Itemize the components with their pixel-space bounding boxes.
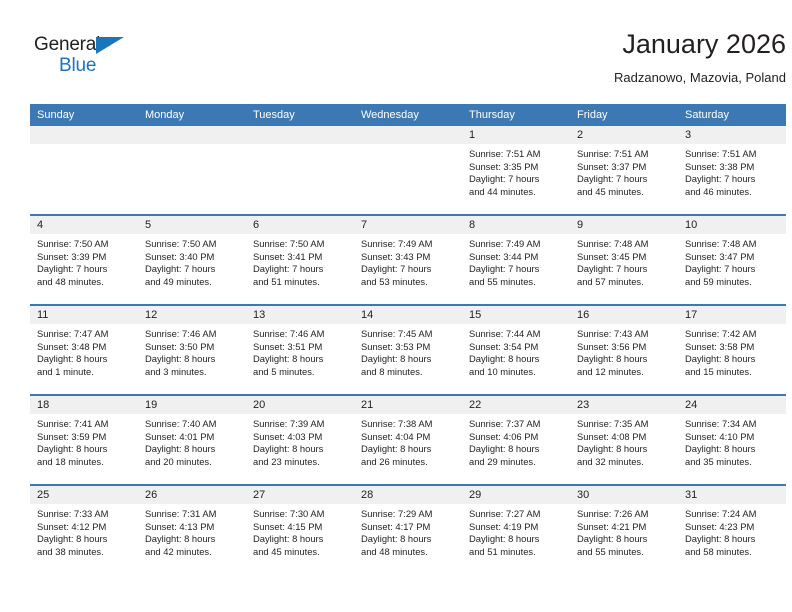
daylight-text-line1: Daylight: 7 hours — [253, 263, 349, 276]
calendar-day-cell[interactable]: 17Sunrise: 7:42 AMSunset: 3:58 PMDayligh… — [678, 305, 786, 395]
sunrise-text: Sunrise: 7:39 AM — [253, 418, 349, 431]
day-details: Sunrise: 7:35 AMSunset: 4:08 PMDaylight:… — [570, 414, 678, 468]
day-details: Sunrise: 7:31 AMSunset: 4:13 PMDaylight:… — [138, 504, 246, 558]
daylight-text-line2: and 32 minutes. — [577, 456, 673, 469]
daylight-text-line2: and 5 minutes. — [253, 366, 349, 379]
daylight-text-line1: Daylight: 8 hours — [145, 353, 241, 366]
day-number: 1 — [462, 126, 570, 144]
calendar-day-cell-empty — [246, 126, 354, 215]
day-number: 24 — [678, 396, 786, 414]
calendar-day-cell[interactable]: 11Sunrise: 7:47 AMSunset: 3:48 PMDayligh… — [30, 305, 138, 395]
day-details: Sunrise: 7:49 AMSunset: 3:43 PMDaylight:… — [354, 234, 462, 288]
sunset-text: Sunset: 4:04 PM — [361, 431, 457, 444]
daylight-text-line1: Daylight: 8 hours — [685, 533, 781, 546]
sunset-text: Sunset: 4:10 PM — [685, 431, 781, 444]
calendar-day-cell[interactable]: 23Sunrise: 7:35 AMSunset: 4:08 PMDayligh… — [570, 395, 678, 485]
daylight-text-line2: and 57 minutes. — [577, 276, 673, 289]
daylight-text-line1: Daylight: 8 hours — [253, 353, 349, 366]
day-number: 9 — [570, 216, 678, 234]
daylight-text-line2: and 15 minutes. — [685, 366, 781, 379]
sunrise-text: Sunrise: 7:47 AM — [37, 328, 133, 341]
day-details: Sunrise: 7:45 AMSunset: 3:53 PMDaylight:… — [354, 324, 462, 378]
calendar-day-cell[interactable]: 18Sunrise: 7:41 AMSunset: 3:59 PMDayligh… — [30, 395, 138, 485]
daylight-text-line1: Daylight: 8 hours — [37, 533, 133, 546]
calendar-day-cell[interactable]: 31Sunrise: 7:24 AMSunset: 4:23 PMDayligh… — [678, 485, 786, 574]
sunrise-text: Sunrise: 7:44 AM — [469, 328, 565, 341]
calendar-day-cell[interactable]: 9Sunrise: 7:48 AMSunset: 3:45 PMDaylight… — [570, 215, 678, 305]
calendar-day-cell-empty — [30, 126, 138, 215]
day-number: 30 — [570, 486, 678, 504]
calendar-day-cell[interactable]: 30Sunrise: 7:26 AMSunset: 4:21 PMDayligh… — [570, 485, 678, 574]
day-details: Sunrise: 7:49 AMSunset: 3:44 PMDaylight:… — [462, 234, 570, 288]
daylight-text-line1: Daylight: 8 hours — [685, 353, 781, 366]
day-number: 25 — [30, 486, 138, 504]
daylight-text-line1: Daylight: 8 hours — [577, 443, 673, 456]
daylight-text-line1: Daylight: 8 hours — [361, 353, 457, 366]
sunrise-text: Sunrise: 7:49 AM — [361, 238, 457, 251]
day-details: Sunrise: 7:42 AMSunset: 3:58 PMDaylight:… — [678, 324, 786, 378]
day-number: 28 — [354, 486, 462, 504]
day-details: Sunrise: 7:40 AMSunset: 4:01 PMDaylight:… — [138, 414, 246, 468]
calendar-header-row: Sunday Monday Tuesday Wednesday Thursday… — [30, 104, 786, 126]
brand-logo[interactable]: General Blue — [34, 34, 154, 80]
page-header: General Blue January 2026 Radzanowo, Maz… — [30, 28, 786, 100]
sunset-text: Sunset: 3:44 PM — [469, 251, 565, 264]
sunrise-text: Sunrise: 7:31 AM — [145, 508, 241, 521]
calendar-day-cell[interactable]: 15Sunrise: 7:44 AMSunset: 3:54 PMDayligh… — [462, 305, 570, 395]
day-details: Sunrise: 7:38 AMSunset: 4:04 PMDaylight:… — [354, 414, 462, 468]
calendar-day-cell[interactable]: 4Sunrise: 7:50 AMSunset: 3:39 PMDaylight… — [30, 215, 138, 305]
weekday-header-saturday: Saturday — [678, 104, 786, 126]
day-details: Sunrise: 7:30 AMSunset: 4:15 PMDaylight:… — [246, 504, 354, 558]
daylight-text-line2: and 1 minute. — [37, 366, 133, 379]
daylight-text-line1: Daylight: 7 hours — [469, 263, 565, 276]
daylight-text-line1: Daylight: 8 hours — [577, 353, 673, 366]
calendar-week-row: 4Sunrise: 7:50 AMSunset: 3:39 PMDaylight… — [30, 215, 786, 305]
sunrise-text: Sunrise: 7:48 AM — [685, 238, 781, 251]
sunset-text: Sunset: 3:56 PM — [577, 341, 673, 354]
day-number: 12 — [138, 306, 246, 324]
logo-triangle-icon — [96, 37, 124, 54]
sunrise-text: Sunrise: 7:50 AM — [37, 238, 133, 251]
daylight-text-line1: Daylight: 8 hours — [145, 443, 241, 456]
calendar-day-cell[interactable]: 28Sunrise: 7:29 AMSunset: 4:17 PMDayligh… — [354, 485, 462, 574]
daylight-text-line1: Daylight: 8 hours — [145, 533, 241, 546]
day-number — [30, 126, 138, 144]
calendar-page: General Blue January 2026 Radzanowo, Maz… — [0, 0, 792, 612]
sunrise-text: Sunrise: 7:26 AM — [577, 508, 673, 521]
sunrise-text: Sunrise: 7:49 AM — [469, 238, 565, 251]
sunrise-text: Sunrise: 7:29 AM — [361, 508, 457, 521]
day-details: Sunrise: 7:24 AMSunset: 4:23 PMDaylight:… — [678, 504, 786, 558]
sunset-text: Sunset: 3:38 PM — [685, 161, 781, 174]
weekday-header-monday: Monday — [138, 104, 246, 126]
location-subtitle: Radzanowo, Mazovia, Poland — [614, 69, 786, 87]
sunset-text: Sunset: 4:13 PM — [145, 521, 241, 534]
weekday-header-friday: Friday — [570, 104, 678, 126]
day-number: 13 — [246, 306, 354, 324]
day-details: Sunrise: 7:29 AMSunset: 4:17 PMDaylight:… — [354, 504, 462, 558]
day-number: 18 — [30, 396, 138, 414]
daylight-text-line2: and 12 minutes. — [577, 366, 673, 379]
day-details: Sunrise: 7:33 AMSunset: 4:12 PMDaylight:… — [30, 504, 138, 558]
calendar-body: 1Sunrise: 7:51 AMSunset: 3:35 PMDaylight… — [30, 126, 786, 574]
sunrise-text: Sunrise: 7:42 AM — [685, 328, 781, 341]
calendar-day-cell[interactable]: 29Sunrise: 7:27 AMSunset: 4:19 PMDayligh… — [462, 485, 570, 574]
calendar-week-row: 1Sunrise: 7:51 AMSunset: 3:35 PMDaylight… — [30, 126, 786, 215]
calendar-day-cell[interactable]: 24Sunrise: 7:34 AMSunset: 4:10 PMDayligh… — [678, 395, 786, 485]
day-details: Sunrise: 7:50 AMSunset: 3:39 PMDaylight:… — [30, 234, 138, 288]
day-number: 31 — [678, 486, 786, 504]
sunset-text: Sunset: 4:03 PM — [253, 431, 349, 444]
calendar-day-cell[interactable]: 10Sunrise: 7:48 AMSunset: 3:47 PMDayligh… — [678, 215, 786, 305]
sunset-text: Sunset: 3:53 PM — [361, 341, 457, 354]
day-number: 2 — [570, 126, 678, 144]
daylight-text-line2: and 3 minutes. — [145, 366, 241, 379]
sunset-text: Sunset: 4:23 PM — [685, 521, 781, 534]
page-title: January 2026 — [614, 28, 786, 60]
calendar-day-cell[interactable]: 5Sunrise: 7:50 AMSunset: 3:40 PMDaylight… — [138, 215, 246, 305]
sunset-text: Sunset: 4:19 PM — [469, 521, 565, 534]
sunset-text: Sunset: 4:06 PM — [469, 431, 565, 444]
day-number: 23 — [570, 396, 678, 414]
day-number — [354, 126, 462, 144]
day-details: Sunrise: 7:26 AMSunset: 4:21 PMDaylight:… — [570, 504, 678, 558]
daylight-text-line1: Daylight: 8 hours — [37, 443, 133, 456]
day-details: Sunrise: 7:48 AMSunset: 3:45 PMDaylight:… — [570, 234, 678, 288]
day-number: 20 — [246, 396, 354, 414]
sunrise-text: Sunrise: 7:41 AM — [37, 418, 133, 431]
sunrise-text: Sunrise: 7:40 AM — [145, 418, 241, 431]
sunset-text: Sunset: 3:43 PM — [361, 251, 457, 264]
sunrise-text: Sunrise: 7:43 AM — [577, 328, 673, 341]
day-details: Sunrise: 7:39 AMSunset: 4:03 PMDaylight:… — [246, 414, 354, 468]
sunrise-text: Sunrise: 7:51 AM — [469, 148, 565, 161]
sunset-text: Sunset: 4:12 PM — [37, 521, 133, 534]
daylight-text-line1: Daylight: 8 hours — [469, 533, 565, 546]
daylight-text-line1: Daylight: 7 hours — [685, 173, 781, 186]
calendar-day-cell[interactable]: 26Sunrise: 7:31 AMSunset: 4:13 PMDayligh… — [138, 485, 246, 574]
weekday-header-wednesday: Wednesday — [354, 104, 462, 126]
calendar-day-cell[interactable]: 12Sunrise: 7:46 AMSunset: 3:50 PMDayligh… — [138, 305, 246, 395]
daylight-text-line1: Daylight: 8 hours — [361, 443, 457, 456]
daylight-text-line2: and 23 minutes. — [253, 456, 349, 469]
calendar-week-row: 25Sunrise: 7:33 AMSunset: 4:12 PMDayligh… — [30, 485, 786, 574]
daylight-text-line1: Daylight: 7 hours — [577, 263, 673, 276]
day-number: 6 — [246, 216, 354, 234]
daylight-text-line1: Daylight: 7 hours — [145, 263, 241, 276]
day-number: 3 — [678, 126, 786, 144]
daylight-text-line2: and 44 minutes. — [469, 186, 565, 199]
daylight-text-line1: Daylight: 8 hours — [469, 443, 565, 456]
daylight-text-line2: and 20 minutes. — [145, 456, 241, 469]
calendar-week-row: 18Sunrise: 7:41 AMSunset: 3:59 PMDayligh… — [30, 395, 786, 485]
calendar-day-cell[interactable]: 1Sunrise: 7:51 AMSunset: 3:35 PMDaylight… — [462, 126, 570, 215]
sunrise-text: Sunrise: 7:48 AM — [577, 238, 673, 251]
day-number: 17 — [678, 306, 786, 324]
sunrise-text: Sunrise: 7:33 AM — [37, 508, 133, 521]
day-number: 27 — [246, 486, 354, 504]
day-details: Sunrise: 7:43 AMSunset: 3:56 PMDaylight:… — [570, 324, 678, 378]
day-number: 10 — [678, 216, 786, 234]
daylight-text-line2: and 26 minutes. — [361, 456, 457, 469]
calendar-day-cell[interactable]: 22Sunrise: 7:37 AMSunset: 4:06 PMDayligh… — [462, 395, 570, 485]
daylight-text-line2: and 42 minutes. — [145, 546, 241, 559]
day-number — [138, 126, 246, 144]
day-details: Sunrise: 7:37 AMSunset: 4:06 PMDaylight:… — [462, 414, 570, 468]
brand-name-general: General — [34, 34, 100, 56]
day-details: Sunrise: 7:50 AMSunset: 3:40 PMDaylight:… — [138, 234, 246, 288]
calendar-day-cell[interactable]: 6Sunrise: 7:50 AMSunset: 3:41 PMDaylight… — [246, 215, 354, 305]
day-number: 21 — [354, 396, 462, 414]
calendar-grid: Sunday Monday Tuesday Wednesday Thursday… — [30, 104, 786, 574]
brand-name-blue: Blue — [59, 55, 96, 77]
daylight-text-line2: and 18 minutes. — [37, 456, 133, 469]
calendar-day-cell[interactable]: 21Sunrise: 7:38 AMSunset: 4:04 PMDayligh… — [354, 395, 462, 485]
sunrise-text: Sunrise: 7:27 AM — [469, 508, 565, 521]
daylight-text-line2: and 51 minutes. — [469, 546, 565, 559]
sunset-text: Sunset: 4:15 PM — [253, 521, 349, 534]
sunrise-text: Sunrise: 7:24 AM — [685, 508, 781, 521]
daylight-text-line1: Daylight: 7 hours — [361, 263, 457, 276]
calendar-day-cell[interactable]: 20Sunrise: 7:39 AMSunset: 4:03 PMDayligh… — [246, 395, 354, 485]
daylight-text-line1: Daylight: 8 hours — [253, 533, 349, 546]
daylight-text-line2: and 45 minutes. — [577, 186, 673, 199]
sunrise-text: Sunrise: 7:50 AM — [253, 238, 349, 251]
daylight-text-line2: and 53 minutes. — [361, 276, 457, 289]
sunset-text: Sunset: 3:40 PM — [145, 251, 241, 264]
daylight-text-line2: and 55 minutes. — [577, 546, 673, 559]
daylight-text-line2: and 48 minutes. — [361, 546, 457, 559]
sunrise-text: Sunrise: 7:34 AM — [685, 418, 781, 431]
sunset-text: Sunset: 3:48 PM — [37, 341, 133, 354]
day-number: 4 — [30, 216, 138, 234]
sunrise-text: Sunrise: 7:35 AM — [577, 418, 673, 431]
daylight-text-line2: and 58 minutes. — [685, 546, 781, 559]
daylight-text-line2: and 10 minutes. — [469, 366, 565, 379]
weekday-header-sunday: Sunday — [30, 104, 138, 126]
sunrise-text: Sunrise: 7:46 AM — [253, 328, 349, 341]
day-number: 7 — [354, 216, 462, 234]
day-details: Sunrise: 7:48 AMSunset: 3:47 PMDaylight:… — [678, 234, 786, 288]
calendar-day-cell-empty — [354, 126, 462, 215]
sunset-text: Sunset: 4:21 PM — [577, 521, 673, 534]
sunrise-text: Sunrise: 7:30 AM — [253, 508, 349, 521]
sunset-text: Sunset: 3:35 PM — [469, 161, 565, 174]
sunrise-text: Sunrise: 7:50 AM — [145, 238, 241, 251]
day-details: Sunrise: 7:46 AMSunset: 3:50 PMDaylight:… — [138, 324, 246, 378]
daylight-text-line1: Daylight: 8 hours — [685, 443, 781, 456]
sunrise-text: Sunrise: 7:51 AM — [577, 148, 673, 161]
day-details: Sunrise: 7:51 AMSunset: 3:37 PMDaylight:… — [570, 144, 678, 198]
daylight-text-line1: Daylight: 8 hours — [469, 353, 565, 366]
weekday-header-thursday: Thursday — [462, 104, 570, 126]
daylight-text-line1: Daylight: 8 hours — [253, 443, 349, 456]
day-details: Sunrise: 7:34 AMSunset: 4:10 PMDaylight:… — [678, 414, 786, 468]
daylight-text-line2: and 55 minutes. — [469, 276, 565, 289]
daylight-text-line2: and 46 minutes. — [685, 186, 781, 199]
calendar-day-cell[interactable]: 19Sunrise: 7:40 AMSunset: 4:01 PMDayligh… — [138, 395, 246, 485]
day-number: 11 — [30, 306, 138, 324]
daylight-text-line2: and 35 minutes. — [685, 456, 781, 469]
day-details: Sunrise: 7:41 AMSunset: 3:59 PMDaylight:… — [30, 414, 138, 468]
sunset-text: Sunset: 3:47 PM — [685, 251, 781, 264]
sunrise-text: Sunrise: 7:45 AM — [361, 328, 457, 341]
calendar-day-cell[interactable]: 3Sunrise: 7:51 AMSunset: 3:38 PMDaylight… — [678, 126, 786, 215]
day-details: Sunrise: 7:51 AMSunset: 3:35 PMDaylight:… — [462, 144, 570, 198]
daylight-text-line2: and 8 minutes. — [361, 366, 457, 379]
daylight-text-line2: and 38 minutes. — [37, 546, 133, 559]
daylight-text-line2: and 51 minutes. — [253, 276, 349, 289]
day-number: 5 — [138, 216, 246, 234]
sunrise-text: Sunrise: 7:37 AM — [469, 418, 565, 431]
day-details: Sunrise: 7:44 AMSunset: 3:54 PMDaylight:… — [462, 324, 570, 378]
title-block: January 2026 Radzanowo, Mazovia, Poland — [614, 28, 786, 87]
sunset-text: Sunset: 3:58 PM — [685, 341, 781, 354]
sunset-text: Sunset: 3:37 PM — [577, 161, 673, 174]
calendar-day-cell[interactable]: 2Sunrise: 7:51 AMSunset: 3:37 PMDaylight… — [570, 126, 678, 215]
daylight-text-line1: Daylight: 7 hours — [469, 173, 565, 186]
day-number — [246, 126, 354, 144]
daylight-text-line1: Daylight: 8 hours — [37, 353, 133, 366]
day-details: Sunrise: 7:27 AMSunset: 4:19 PMDaylight:… — [462, 504, 570, 558]
day-details: Sunrise: 7:50 AMSunset: 3:41 PMDaylight:… — [246, 234, 354, 288]
day-details: Sunrise: 7:51 AMSunset: 3:38 PMDaylight:… — [678, 144, 786, 198]
day-number: 15 — [462, 306, 570, 324]
daylight-text-line2: and 49 minutes. — [145, 276, 241, 289]
sunset-text: Sunset: 4:01 PM — [145, 431, 241, 444]
calendar-day-cell[interactable]: 8Sunrise: 7:49 AMSunset: 3:44 PMDaylight… — [462, 215, 570, 305]
day-number: 26 — [138, 486, 246, 504]
sunset-text: Sunset: 4:17 PM — [361, 521, 457, 534]
daylight-text-line1: Daylight: 8 hours — [577, 533, 673, 546]
sunset-text: Sunset: 3:41 PM — [253, 251, 349, 264]
sunset-text: Sunset: 3:39 PM — [37, 251, 133, 264]
daylight-text-line2: and 29 minutes. — [469, 456, 565, 469]
day-number: 29 — [462, 486, 570, 504]
calendar-day-cell[interactable]: 13Sunrise: 7:46 AMSunset: 3:51 PMDayligh… — [246, 305, 354, 395]
daylight-text-line2: and 48 minutes. — [37, 276, 133, 289]
calendar-day-cell[interactable]: 14Sunrise: 7:45 AMSunset: 3:53 PMDayligh… — [354, 305, 462, 395]
sunrise-text: Sunrise: 7:46 AM — [145, 328, 241, 341]
daylight-text-line1: Daylight: 7 hours — [37, 263, 133, 276]
calendar-day-cell-empty — [138, 126, 246, 215]
calendar-week-row: 11Sunrise: 7:47 AMSunset: 3:48 PMDayligh… — [30, 305, 786, 395]
day-number: 16 — [570, 306, 678, 324]
daylight-text-line2: and 45 minutes. — [253, 546, 349, 559]
sunrise-text: Sunrise: 7:51 AM — [685, 148, 781, 161]
daylight-text-line1: Daylight: 7 hours — [685, 263, 781, 276]
sunset-text: Sunset: 3:50 PM — [145, 341, 241, 354]
day-details: Sunrise: 7:47 AMSunset: 3:48 PMDaylight:… — [30, 324, 138, 378]
daylight-text-line1: Daylight: 7 hours — [577, 173, 673, 186]
calendar-day-cell[interactable]: 27Sunrise: 7:30 AMSunset: 4:15 PMDayligh… — [246, 485, 354, 574]
sunrise-text: Sunrise: 7:38 AM — [361, 418, 457, 431]
day-number: 22 — [462, 396, 570, 414]
sunset-text: Sunset: 3:54 PM — [469, 341, 565, 354]
sunset-text: Sunset: 4:08 PM — [577, 431, 673, 444]
sunset-text: Sunset: 3:59 PM — [37, 431, 133, 444]
day-number: 8 — [462, 216, 570, 234]
sunset-text: Sunset: 3:51 PM — [253, 341, 349, 354]
calendar-day-cell[interactable]: 7Sunrise: 7:49 AMSunset: 3:43 PMDaylight… — [354, 215, 462, 305]
daylight-text-line2: and 59 minutes. — [685, 276, 781, 289]
day-number: 19 — [138, 396, 246, 414]
day-number: 14 — [354, 306, 462, 324]
calendar-day-cell[interactable]: 16Sunrise: 7:43 AMSunset: 3:56 PMDayligh… — [570, 305, 678, 395]
sunset-text: Sunset: 3:45 PM — [577, 251, 673, 264]
weekday-header-tuesday: Tuesday — [246, 104, 354, 126]
daylight-text-line1: Daylight: 8 hours — [361, 533, 457, 546]
day-details: Sunrise: 7:46 AMSunset: 3:51 PMDaylight:… — [246, 324, 354, 378]
calendar-day-cell[interactable]: 25Sunrise: 7:33 AMSunset: 4:12 PMDayligh… — [30, 485, 138, 574]
